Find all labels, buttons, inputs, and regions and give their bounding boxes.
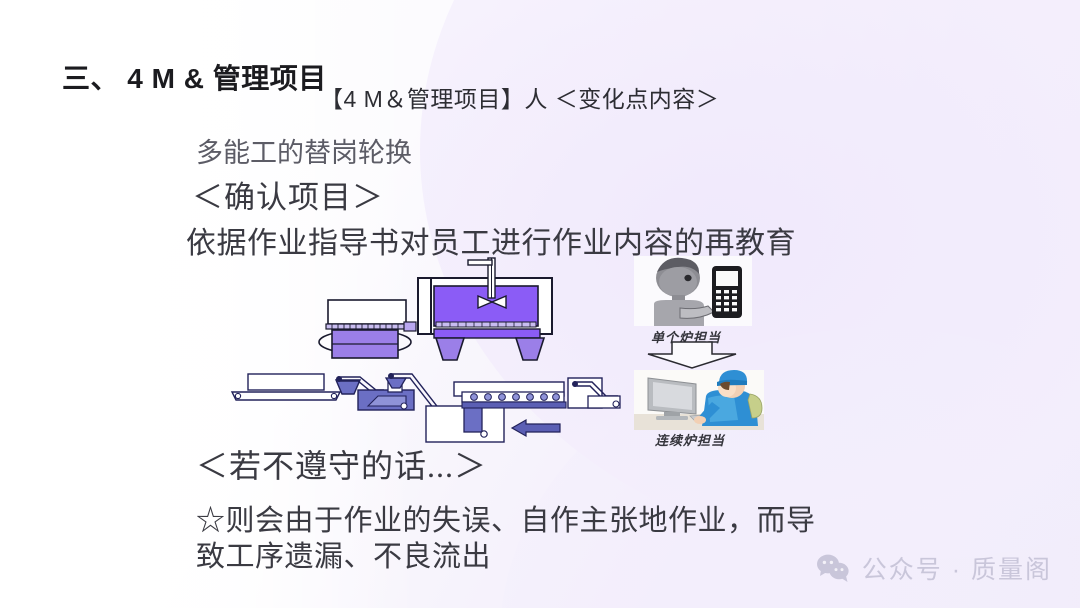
text-result-line-2: 致工序遗漏、不良流出 [196,533,491,575]
person-continuous-furnace-operator [634,370,764,430]
watermark-text: 公众号 · 质量阁 [862,550,1052,586]
batch-furnace-diagram [312,252,616,372]
text-confirm-heading: ＜确认项目＞ [192,172,384,217]
continuous-furnace-line-diagram [226,362,630,448]
wechat-icon [816,553,850,583]
flow-direction-arrow-icon [512,420,560,436]
person-continuous-furnace-label: 连续炉担当 [655,430,725,449]
text-rotation-line: 多能工的替岗轮换 [196,131,412,170]
page-subtitle: 【4 M＆管理项目】人 ＜变化点内容＞ [320,80,719,114]
watermark: 公众号 · 质量阁 [816,550,1052,586]
down-arrow-icon [646,340,738,370]
slide-canvas: 三、 4 M & 管理项目 【4 M＆管理项目】人 ＜变化点内容＞ 多能工的替岗… [0,0,1080,608]
person-single-furnace-operator [634,256,752,326]
page-title: 三、 4 M & 管理项目 [62,57,327,97]
